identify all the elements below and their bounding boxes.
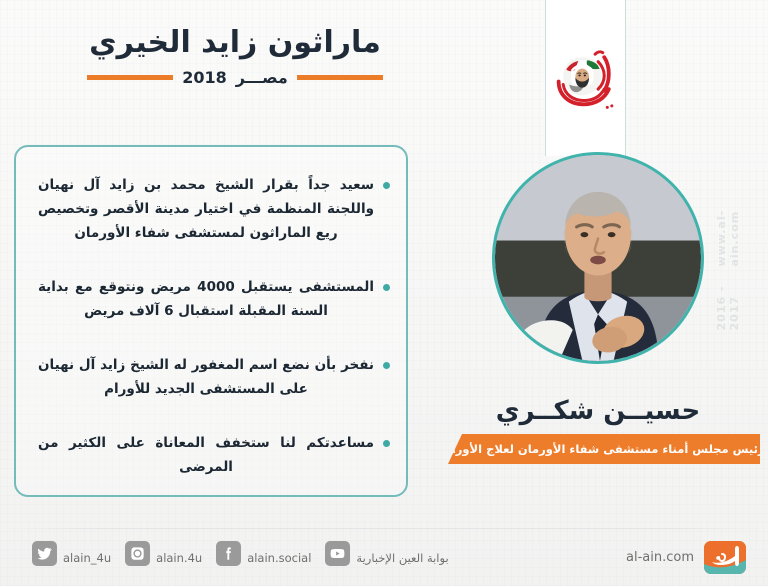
social-handle: alain.4u (156, 551, 202, 566)
subline-bar-left (87, 75, 173, 80)
social-link-youtube[interactable]: بوابة العين الإخبارية (325, 541, 448, 566)
instagram-icon[interactable] (125, 541, 150, 566)
avatar (492, 152, 704, 364)
page-title: ماراثون زايد الخيري (0, 26, 470, 59)
year-label: 2018 (182, 68, 227, 87)
statement-text: سعيد جداً بقرار الشيخ محمد بن زايد آل نه… (38, 173, 374, 245)
watermark-site: www.al-ain.com (715, 190, 741, 267)
header-title-block: ماراثون زايد الخيري مصـــر 2018 (0, 26, 470, 87)
watermark: www.al-ain.com 2016 - 2017 (718, 190, 738, 330)
footer: alain_4u alain.4u alain.social بوابة الع… (0, 529, 768, 586)
subline-bar-right (297, 75, 383, 80)
statement-text: نفخر بأن نضع اسم المغفور له الشيخ زايد آ… (38, 353, 374, 401)
bullet-dot-icon (383, 362, 390, 369)
list-item: سعيد جداً بقرار الشيخ محمد بن زايد آل نه… (38, 173, 390, 245)
social-handle: alain.social (247, 551, 311, 566)
statement-text: مساعدتكم لنا ستخفف المعاناة على الكثير م… (38, 431, 374, 479)
country-label: مصـــر (236, 68, 288, 87)
title-subline: مصـــر 2018 (0, 68, 470, 87)
list-item: مساعدتكم لنا ستخفف المعاناة على الكثير م… (38, 431, 390, 479)
bullet-dot-icon (383, 182, 390, 189)
youtube-icon[interactable] (325, 541, 350, 566)
social-links: alain_4u alain.4u alain.social بوابة الع… (32, 541, 449, 566)
brand-block[interactable]: al-ain.com (626, 541, 746, 574)
person-role: رئيس مجلس أمناء مستشفى شفاء الأورمان لعل… (435, 442, 768, 456)
bullet-dot-icon (383, 284, 390, 291)
watermark-years: 2016 - 2017 (715, 273, 741, 330)
social-handle: alain_4u (63, 551, 111, 566)
list-item: نفخر بأن نضع اسم المغفور له الشيخ زايد آ… (38, 353, 390, 401)
social-link-twitter[interactable]: alain_4u (32, 541, 111, 566)
al-ain-logo-icon[interactable] (704, 541, 746, 574)
person-photo (495, 155, 701, 361)
twitter-icon[interactable] (32, 541, 57, 566)
year-of-zayed-logo-icon (548, 42, 624, 118)
facebook-icon[interactable] (216, 541, 241, 566)
bullet-dot-icon (383, 440, 390, 447)
social-link-facebook[interactable]: alain.social (216, 541, 311, 566)
statement-text: المستشفى يستقبل 4000 مريض ونتوقع مع بداي… (38, 275, 374, 323)
list-item: المستشفى يستقبل 4000 مريض ونتوقع مع بداي… (38, 275, 390, 323)
person-name: حسيــن شكــري (440, 396, 756, 426)
role-banner: رئيس مجلس أمناء مستشفى شفاء الأورمان لعل… (448, 434, 760, 464)
social-link-instagram[interactable]: alain.4u (125, 541, 202, 566)
statements-card: سعيد جداً بقرار الشيخ محمد بن زايد آل نه… (14, 145, 408, 497)
infographic-canvas: ماراثون زايد الخيري مصـــر 2018 (0, 0, 768, 586)
social-handle: بوابة العين الإخبارية (356, 551, 448, 566)
brand-url: al-ain.com (626, 550, 694, 565)
